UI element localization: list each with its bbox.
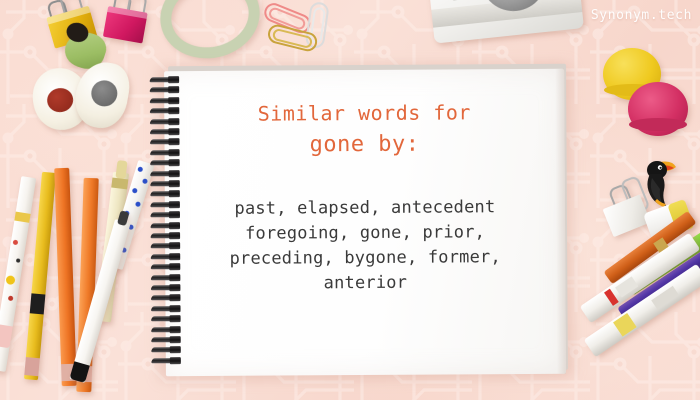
- desk-scene: Similar words for gone by: past, elapsed…: [0, 0, 700, 400]
- spiral-coil: [152, 348, 182, 353]
- synonym-line: preceding, bygone, former,: [187, 245, 543, 272]
- synonym-line: anterior: [187, 270, 543, 297]
- synonym-list: past, elapsed, antecedent foregoing, gon…: [187, 195, 544, 297]
- spiral-coil: [152, 316, 182, 321]
- spiral-coil: [151, 192, 181, 197]
- spiral-coil: [151, 160, 181, 165]
- spiral-coil: [151, 285, 181, 290]
- spiral-coil: [151, 223, 181, 228]
- spiral-coil: [151, 202, 181, 207]
- spiral-coil: [151, 264, 181, 269]
- macaron-pink-filling: [629, 118, 687, 131]
- synonym-line: past, elapsed, antecedent: [187, 195, 543, 222]
- spiral-coil: [150, 140, 180, 145]
- spiral-coil: [151, 181, 181, 186]
- site-watermark: Synonym.tech: [591, 8, 692, 23]
- spiral-coil: [150, 108, 180, 113]
- card-query-word: gone by:: [186, 127, 542, 163]
- synonym-card: Similar words for gone by: past, elapsed…: [186, 97, 543, 297]
- spiral-coil: [151, 254, 181, 259]
- spiral-coil: [150, 77, 180, 82]
- spiral-binding: [150, 77, 186, 369]
- spiral-coil: [151, 233, 181, 238]
- spiral-coil: [152, 337, 182, 342]
- spiral-coil: [152, 358, 182, 363]
- spiral-coil: [151, 212, 181, 217]
- spiral-coil: [150, 98, 180, 103]
- notebook: Similar words for gone by: past, elapsed…: [164, 69, 566, 376]
- spiral-coil: [150, 88, 180, 93]
- spiral-coil: [152, 306, 182, 311]
- spiral-coil: [150, 119, 180, 124]
- spiral-coil: [151, 296, 181, 301]
- spiral-coil: [151, 150, 181, 155]
- spiral-coil: [150, 129, 180, 134]
- synonym-line: foregoing, gone, prior,: [187, 220, 543, 247]
- spiral-coil: [151, 171, 181, 176]
- card-title: Similar words for: [186, 97, 542, 129]
- spiral-coil: [152, 327, 182, 332]
- spiral-coil: [151, 244, 181, 249]
- spiral-coil: [151, 275, 181, 280]
